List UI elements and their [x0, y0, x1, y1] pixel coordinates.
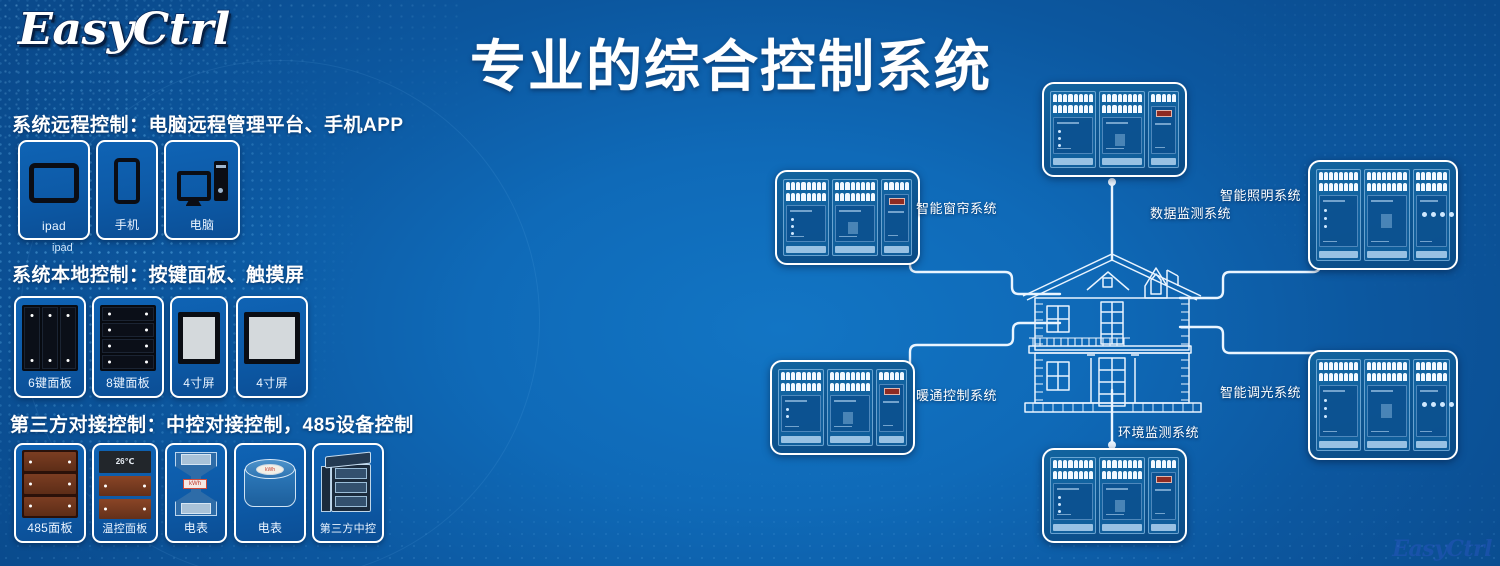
module-footer: [1151, 524, 1176, 531]
device-card-thermostat-panel[interactable]: 26℃ 温控面板: [92, 443, 158, 543]
controller-card-lighting[interactable]: [1308, 160, 1458, 270]
terminal-block: [1319, 362, 1358, 370]
thermostat-display: 26℃: [99, 451, 151, 473]
terminal-block: [1319, 373, 1358, 381]
terminal-block: [1367, 172, 1406, 180]
device-card-label: 6键面板: [28, 373, 72, 396]
module-footer: [1151, 158, 1176, 165]
module-faceplate: [830, 395, 870, 432]
module-faceplate: [1319, 385, 1358, 437]
module-faceplate: [1151, 472, 1176, 520]
module-footer: [1416, 251, 1447, 258]
terminal-block: [1319, 183, 1358, 191]
round-meter-icon: kWh: [236, 445, 304, 518]
device-card-four-inch-screen-b[interactable]: 4寸屏: [236, 296, 308, 398]
four-inch-screen-icon: [172, 298, 226, 373]
smartphone-icon: [98, 142, 156, 215]
controller-module: [1148, 91, 1179, 168]
stray-caption-ipad: ipad: [52, 242, 73, 254]
terminal-block: [1367, 183, 1406, 191]
module-faceplate: [1151, 106, 1176, 154]
terminal-block: [1416, 172, 1447, 180]
module-lcd-display: [1156, 110, 1172, 117]
terminal-block: [1053, 460, 1093, 468]
controller-card-environment[interactable]: [1042, 448, 1187, 543]
device-card-round-meter[interactable]: kWh 电表: [234, 443, 306, 543]
terminal-block: [884, 182, 909, 190]
terminal-block: [1151, 94, 1176, 102]
meter-display: kWh: [183, 479, 207, 489]
controller-card-data-monitoring[interactable]: [1042, 82, 1187, 177]
node-label-data-monitoring: 数据监测系统: [1150, 203, 1231, 222]
section-heading-third-party-control: 第三方对接控制：中控对接控制，485设备控制: [10, 410, 414, 437]
module-lcd-display: [884, 388, 900, 395]
poster-canvas: EasyCtrl 专业的综合控制系统 系统远程控制：电脑远程管理平台、手机APP…: [0, 0, 1500, 566]
module-footer: [1416, 441, 1447, 448]
node-label-curtain: 智能窗帘系统: [916, 198, 997, 217]
tablet-icon: [20, 142, 88, 218]
controller-module: [1099, 91, 1145, 168]
module-faceplate: [1102, 117, 1142, 154]
controller-module: [783, 179, 829, 256]
terminal-block: [1053, 105, 1093, 113]
brand-logo: EasyCtrl: [18, 4, 230, 55]
module-footer: [1319, 441, 1358, 448]
module-faceplate: [786, 205, 826, 242]
module-faceplate: [1319, 195, 1358, 247]
module-faceplate: [781, 395, 821, 432]
controller-module: [832, 179, 878, 256]
controller-module: [1413, 169, 1450, 261]
device-card-phone[interactable]: 手机: [96, 140, 158, 240]
device-card-rs485-panel[interactable]: 485面板: [14, 443, 86, 543]
device-card-label: 电表: [258, 518, 283, 541]
controller-module: [876, 369, 907, 446]
terminal-block: [1102, 460, 1142, 468]
terminal-block: [786, 193, 826, 201]
device-card-label: 温控面板: [102, 519, 147, 541]
terminal-block: [830, 383, 870, 391]
terminal-block: [1102, 94, 1142, 102]
terminal-block: [1416, 373, 1447, 381]
eight-key-panel-icon: [94, 298, 162, 373]
device-card-label: 电脑: [190, 215, 215, 238]
controller-module: [778, 369, 824, 446]
controller-card-curtain[interactable]: [775, 170, 920, 265]
module-faceplate: [1416, 385, 1447, 437]
controller-module: [1364, 169, 1409, 261]
controller-module: [1316, 169, 1361, 261]
module-footer: [1102, 524, 1142, 531]
module-footer: [1319, 251, 1358, 258]
smart-house-illustration: [1015, 250, 1210, 425]
module-lcd-display: [1156, 476, 1172, 483]
controller-card-dimming[interactable]: [1308, 350, 1458, 460]
device-card-label: 4寸屏: [256, 373, 288, 396]
terminal-block: [1416, 362, 1447, 370]
terminal-block: [786, 182, 826, 190]
terminal-block: [1367, 373, 1406, 381]
node-label-lighting: 智能照明系统: [1220, 185, 1301, 204]
module-faceplate: [884, 194, 909, 242]
module-footer: [781, 436, 821, 443]
terminal-block: [879, 372, 904, 380]
third-party-controller-icon: [314, 445, 382, 519]
device-card-din-meter[interactable]: kWh 电表: [165, 443, 227, 543]
controller-module: [1050, 91, 1096, 168]
terminal-block: [1367, 362, 1406, 370]
module-footer: [1102, 158, 1142, 165]
device-card-eight-key-panel[interactable]: 8键面板: [92, 296, 164, 398]
desktop-computer-icon: [166, 142, 238, 215]
device-card-six-key-panel[interactable]: 6键面板: [14, 296, 86, 398]
controller-module: [881, 179, 912, 256]
module-faceplate: [1053, 483, 1093, 520]
module-faceplate: [1053, 117, 1093, 154]
device-card-label: 手机: [115, 215, 140, 238]
rs485-panel-icon: [16, 445, 84, 518]
device-card-label: 第三方中控: [320, 519, 377, 541]
module-faceplate: [879, 384, 904, 432]
device-card-label: 8键面板: [106, 373, 150, 396]
module-footer: [1367, 251, 1406, 258]
controller-module: [1413, 359, 1450, 451]
module-footer: [786, 246, 826, 253]
controller-card-hvac[interactable]: [770, 360, 915, 455]
device-card-computer[interactable]: 电脑: [164, 140, 240, 240]
controller-module: [1316, 359, 1361, 451]
terminal-block: [830, 372, 870, 380]
device-card-label: 485面板: [27, 518, 73, 541]
controller-module: [1364, 359, 1409, 451]
terminal-block: [835, 182, 875, 190]
module-faceplate: [1367, 195, 1406, 247]
section-heading-local-control: 系统本地控制：按键面板、触摸屏: [12, 260, 305, 287]
device-card-ipad[interactable]: ipad: [18, 140, 90, 240]
module-footer: [835, 246, 875, 253]
module-footer: [884, 246, 909, 253]
four-inch-screen-icon: [238, 298, 306, 373]
device-card-third-party-controller[interactable]: 第三方中控: [312, 443, 384, 543]
terminal-block: [781, 383, 821, 391]
terminal-block: [1102, 105, 1142, 113]
section-heading-remote-control: 系统远程控制：电脑远程管理平台、手机APP: [12, 110, 404, 137]
module-footer: [1053, 158, 1093, 165]
device-card-label: 4寸屏: [183, 373, 215, 396]
terminal-block: [1102, 471, 1142, 479]
terminal-block: [1151, 460, 1176, 468]
terminal-block: [1319, 172, 1358, 180]
terminal-block: [781, 372, 821, 380]
module-faceplate: [1102, 483, 1142, 520]
watermark-logo: EasyCtrl: [1392, 536, 1492, 562]
terminal-block: [1053, 94, 1093, 102]
device-card-label: ipad: [42, 218, 66, 238]
node-label-dimming: 智能调光系统: [1220, 382, 1301, 401]
controller-module: [1050, 457, 1096, 534]
six-key-panel-icon: [16, 298, 84, 373]
device-card-label: 电表: [184, 518, 209, 541]
terminal-block: [1416, 183, 1447, 191]
node-label-hvac: 暖通控制系统: [916, 385, 997, 404]
meter-display: kWh: [256, 464, 284, 475]
module-footer: [1367, 441, 1406, 448]
terminal-block: [1053, 471, 1093, 479]
module-faceplate: [1416, 195, 1447, 247]
module-faceplate: [1367, 385, 1406, 437]
thermostat-panel-icon: 26℃: [94, 445, 156, 519]
controller-module: [1148, 457, 1179, 534]
terminal-block: [835, 193, 875, 201]
module-lcd-display: [889, 198, 905, 205]
controller-module: [827, 369, 873, 446]
device-card-four-inch-screen-a[interactable]: 4寸屏: [170, 296, 228, 398]
module-footer: [830, 436, 870, 443]
din-meter-icon: kWh: [167, 445, 225, 518]
module-footer: [1053, 524, 1093, 531]
module-faceplate: [835, 205, 875, 242]
module-footer: [879, 436, 904, 443]
controller-module: [1099, 457, 1145, 534]
